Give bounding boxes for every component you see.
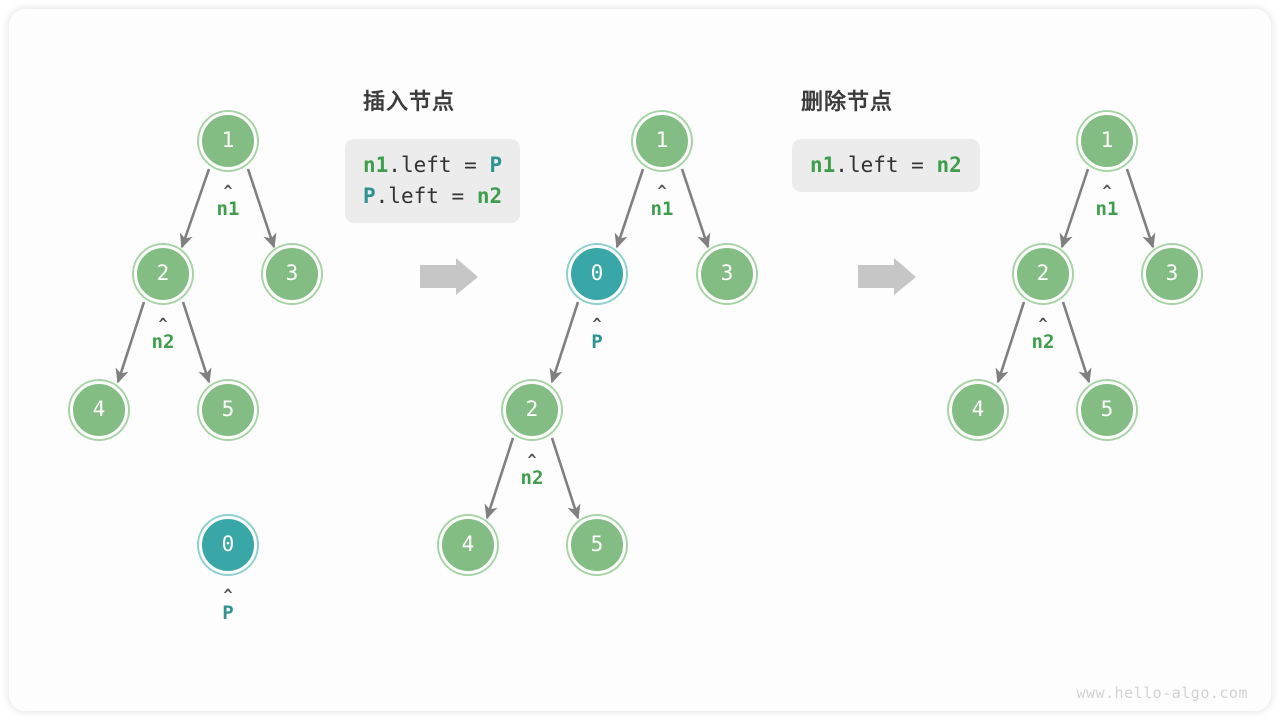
pointer-label: ^n2: [123, 319, 203, 354]
caret-up-icon: ^: [123, 319, 203, 330]
tree-node: 3: [263, 245, 321, 303]
pointer-label-text: n1: [622, 197, 702, 221]
caret-up-icon: ^: [188, 186, 268, 197]
tree-node-value: 3: [721, 261, 734, 285]
pointer-label-text: n1: [188, 197, 268, 221]
tree-node: 3: [1143, 245, 1201, 303]
code-token-operator: .left =: [376, 184, 477, 208]
pointer-label-text: n2: [123, 330, 203, 354]
pointer-label: ^P: [557, 319, 637, 354]
tree-node: 2: [1014, 245, 1072, 303]
caret-up-icon: ^: [622, 186, 702, 197]
watermark: www.hello-algo.com: [1076, 684, 1248, 702]
code-box-insert: n1.left = P P.left = n2: [345, 139, 520, 223]
tree-node: 3: [698, 245, 756, 303]
tree-node: 0: [199, 516, 257, 574]
tree-node: 2: [134, 245, 192, 303]
code-box-delete: n1.left = n2: [792, 139, 980, 192]
pointer-label: ^n1: [188, 186, 268, 221]
pointer-label-text: n2: [492, 466, 572, 490]
tree-node-value: 2: [157, 261, 170, 285]
tree-node: 2: [503, 381, 561, 439]
transition-arrow-2: [858, 258, 916, 295]
caret-up-icon: ^: [1067, 186, 1147, 197]
tree-node: 1: [199, 112, 257, 170]
code-token-operator: .left =: [835, 153, 936, 177]
tree-node: 5: [199, 381, 257, 439]
code-token-identifier: n1: [363, 153, 388, 177]
tree-node: 1: [1078, 112, 1136, 170]
tree-node-value: 3: [286, 261, 299, 285]
tree-node-value: 4: [462, 532, 475, 556]
tree-node-value: 5: [222, 397, 235, 421]
pointer-label-text: P: [188, 601, 268, 625]
tree-node-value: 2: [526, 397, 539, 421]
tree-node-value: 3: [1166, 261, 1179, 285]
tree-node: 0: [568, 245, 626, 303]
pointer-label: ^P: [188, 590, 268, 625]
pointer-label-text: n2: [1003, 330, 1083, 354]
tree-node-value: 0: [222, 532, 235, 556]
code-token-identifier: P: [489, 153, 502, 177]
code-token-identifier: P: [363, 184, 376, 208]
code-line-insert-1: n1.left = P: [363, 150, 502, 181]
tree-node: 5: [1078, 381, 1136, 439]
pointer-label: ^n2: [1003, 319, 1083, 354]
caret-up-icon: ^: [1003, 319, 1083, 330]
tree-node-value: 1: [656, 128, 669, 152]
tree-node-value: 1: [222, 128, 235, 152]
tree-node-value: 4: [972, 397, 985, 421]
figure-root: 插入节点 删除节点 n1.left = P P.left = n2 n1.lef…: [0, 0, 1280, 720]
code-token-identifier: n2: [477, 184, 502, 208]
code-token-operator: .left =: [388, 153, 489, 177]
pointer-label-text: n1: [1067, 197, 1147, 221]
tree-node-value: 1: [1101, 128, 1114, 152]
panel-title-insert: 插入节点: [363, 84, 455, 116]
tree-node-value: 0: [591, 261, 604, 285]
pointer-label: ^n1: [1067, 186, 1147, 221]
caret-up-icon: ^: [188, 590, 268, 601]
pointer-label: ^n1: [622, 186, 702, 221]
tree-node: 4: [439, 516, 497, 574]
tree-node-value: 2: [1037, 261, 1050, 285]
panel-title-delete: 删除节点: [801, 84, 893, 116]
tree-node: 5: [568, 516, 626, 574]
code-token-identifier: n2: [936, 153, 961, 177]
tree-node: 4: [70, 381, 128, 439]
tree-node: 4: [949, 381, 1007, 439]
pointer-label-text: P: [557, 330, 637, 354]
tree-node-value: 4: [93, 397, 106, 421]
code-line-delete-1: n1.left = n2: [810, 150, 962, 181]
transition-arrow-1: [420, 258, 478, 295]
pointer-label: ^n2: [492, 455, 572, 490]
code-line-insert-2: P.left = n2: [363, 181, 502, 212]
tree-node-value: 5: [591, 532, 604, 556]
code-token-identifier: n1: [810, 153, 835, 177]
caret-up-icon: ^: [557, 319, 637, 330]
tree-node-value: 5: [1101, 397, 1114, 421]
caret-up-icon: ^: [492, 455, 572, 466]
tree-node: 1: [633, 112, 691, 170]
